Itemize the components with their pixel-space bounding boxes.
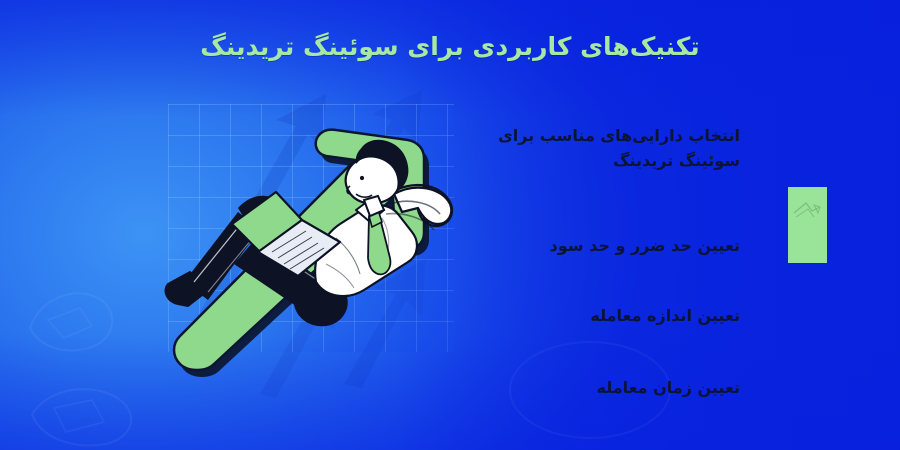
- list-item: تعیین حد ضرر و حد سود: [450, 234, 740, 259]
- list-item: تعیین زمان معامله: [450, 376, 740, 401]
- green-accent-panel: [788, 187, 827, 263]
- decorative-blob-bottom-left: [20, 370, 150, 450]
- page-title: تکنیک‌های کاربردی برای سوئینگ تریدینگ: [0, 31, 900, 62]
- panel-watermark-icon: [790, 195, 824, 229]
- decorative-blob-left: [20, 268, 130, 358]
- illustration-businessman-on-arrow: [150, 86, 470, 392]
- list-item: انتخاب دارایی‌های مناسب برای سوئینگ ترید…: [450, 124, 740, 174]
- slide-canvas: تکنیک‌های کاربردی برای سوئینگ تریدینگ ان…: [0, 0, 900, 450]
- list-item: تعیین اندازه معامله: [450, 304, 740, 329]
